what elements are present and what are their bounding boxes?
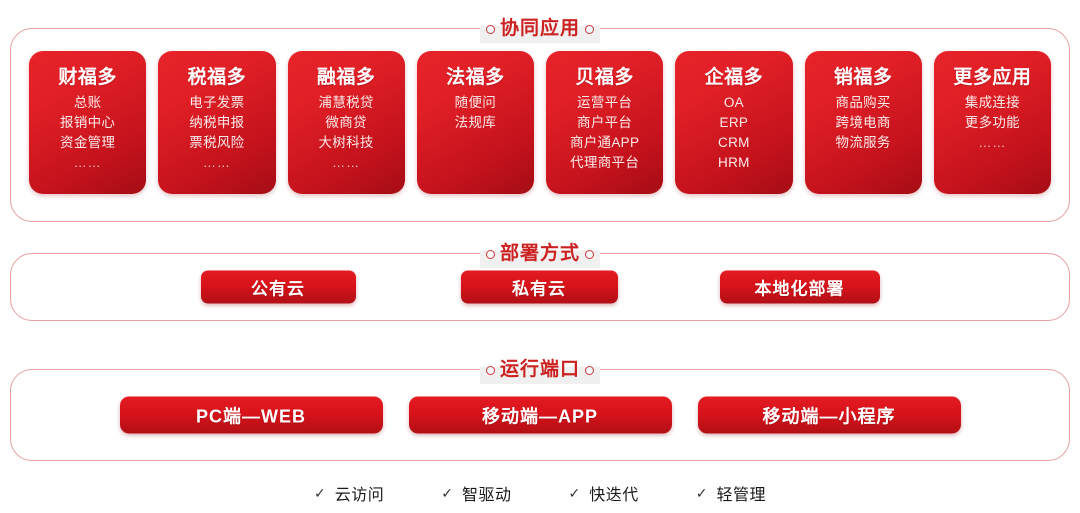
app-card-shuifuduo[interactable]: 税福多 电子发票 纳税申报 票税风险 …… <box>158 51 275 194</box>
app-card-title: 税福多 <box>188 62 247 89</box>
runtime-button-pc-web[interactable]: PC端—WEB <box>120 397 383 434</box>
feature-label: 智驱动 <box>462 481 512 505</box>
section-deployment-methods: 部署方式 公有云 私有云 本地化部署 <box>10 253 1070 321</box>
app-card-title: 销福多 <box>834 62 893 89</box>
check-icon: ✓ <box>696 486 708 500</box>
app-card-item: 物流服务 <box>836 133 891 153</box>
connector-dot-left-icon <box>486 250 495 259</box>
app-card-item: 总账 <box>74 93 102 113</box>
app-card-item: 运营平台 <box>577 93 632 113</box>
app-card-ellipsis: …… <box>74 153 102 172</box>
app-card-item: 票税风险 <box>189 133 244 153</box>
app-card-item: 纳税申报 <box>189 113 244 133</box>
app-card-item: HRM <box>718 153 750 173</box>
section-runtime-endpoints: 运行端口 PC端—WEB 移动端—APP 移动端—小程序 <box>10 369 1070 461</box>
deployment-buttons-row: 公有云 私有云 本地化部署 <box>11 271 1069 304</box>
app-card-rongfuduo[interactable]: 融福多 浦慧税贷 微商贷 大树科技 …… <box>288 51 405 194</box>
app-card-title: 法福多 <box>446 62 505 89</box>
connector-dot-right-icon <box>585 25 594 34</box>
feature-label: 轻管理 <box>716 481 766 505</box>
app-card-item: 更多功能 <box>965 113 1020 133</box>
app-card-item: 报销中心 <box>60 113 115 133</box>
app-card-item: 代理商平台 <box>570 153 639 173</box>
section-title-label: 部署方式 <box>500 240 580 268</box>
architecture-diagram: 协同应用 财福多 总账 报销中心 资金管理 …… 税福多 电子发票 纳税申报 票… <box>0 0 1080 513</box>
app-card-ellipsis: …… <box>978 133 1006 152</box>
runtime-buttons-row: PC端—WEB 移动端—APP 移动端—小程序 <box>11 397 1069 434</box>
app-card-item: 商品购买 <box>836 93 891 113</box>
app-card-title: 融福多 <box>317 62 376 89</box>
app-card-item: 商户通APP <box>570 133 639 153</box>
application-cards-row: 财福多 总账 报销中心 资金管理 …… 税福多 电子发票 纳税申报 票税风险 …… <box>29 51 1051 194</box>
section-title-runtime-endpoints: 运行端口 <box>480 356 600 384</box>
connector-dot-right-icon <box>585 250 594 259</box>
section-title-deployment-methods: 部署方式 <box>480 240 600 268</box>
app-card-ellipsis: …… <box>332 153 360 172</box>
feature-item-light-management: ✓ 轻管理 <box>696 481 766 505</box>
app-card-item: OA <box>724 93 744 113</box>
deployment-button-on-premise[interactable]: 本地化部署 <box>720 271 880 304</box>
feature-item-smart-driven: ✓ 智驱动 <box>441 481 511 505</box>
check-icon: ✓ <box>314 486 326 500</box>
app-card-item: 商户平台 <box>577 113 632 133</box>
section-title-label: 协同应用 <box>500 15 580 43</box>
app-card-item: 大树科技 <box>319 133 374 153</box>
check-icon: ✓ <box>569 486 581 500</box>
app-card-more-applications[interactable]: 更多应用 集成连接 更多功能 …… <box>934 51 1051 194</box>
app-card-title: 企福多 <box>705 62 764 89</box>
app-card-title: 贝福多 <box>575 62 634 89</box>
feature-list: ✓ 云访问 ✓ 智驱动 ✓ 快迭代 ✓ 轻管理 <box>0 481 1080 505</box>
app-card-ellipsis: …… <box>203 153 231 172</box>
app-card-item: 跨境电商 <box>836 113 891 133</box>
app-card-qifuduo[interactable]: 企福多 OA ERP CRM HRM <box>675 51 792 194</box>
feature-label: 快迭代 <box>589 481 639 505</box>
app-card-item: 资金管理 <box>60 133 115 153</box>
feature-item-fast-iteration: ✓ 快迭代 <box>569 481 639 505</box>
deployment-button-public-cloud[interactable]: 公有云 <box>201 271 356 304</box>
section-title-label: 运行端口 <box>500 356 580 384</box>
app-card-item: CRM <box>718 133 750 153</box>
app-card-title: 财福多 <box>58 62 117 89</box>
connector-dot-left-icon <box>486 366 495 375</box>
app-card-beifuduo[interactable]: 贝福多 运营平台 商户平台 商户通APP 代理商平台 <box>546 51 663 194</box>
app-card-caifuduo[interactable]: 财福多 总账 报销中心 资金管理 …… <box>29 51 146 194</box>
runtime-button-mobile-app[interactable]: 移动端—APP <box>409 397 672 434</box>
connector-dot-right-icon <box>585 366 594 375</box>
feature-item-cloud-access: ✓ 云访问 <box>314 481 384 505</box>
app-card-item: 电子发票 <box>189 93 244 113</box>
app-card-item: ERP <box>720 113 749 133</box>
section-collaborative-applications: 协同应用 财福多 总账 报销中心 资金管理 …… 税福多 电子发票 纳税申报 票… <box>10 28 1070 222</box>
check-icon: ✓ <box>441 486 453 500</box>
feature-label: 云访问 <box>335 481 385 505</box>
app-card-item: 集成连接 <box>965 93 1020 113</box>
app-card-item: 浦慧税贷 <box>319 93 374 113</box>
app-card-item: 随便问 <box>455 93 496 113</box>
deployment-button-private-cloud[interactable]: 私有云 <box>461 271 618 304</box>
app-card-item: 法规库 <box>455 113 496 133</box>
section-title-collaborative-applications: 协同应用 <box>480 15 600 43</box>
runtime-button-mobile-miniprogram[interactable]: 移动端—小程序 <box>698 397 961 434</box>
app-card-item: 微商贷 <box>325 113 366 133</box>
app-card-xiaofuduo[interactable]: 销福多 商品购买 跨境电商 物流服务 <box>805 51 922 194</box>
app-card-title: 更多应用 <box>953 62 1031 89</box>
app-card-fafuduo[interactable]: 法福多 随便问 法规库 <box>417 51 534 194</box>
connector-dot-left-icon <box>486 25 495 34</box>
